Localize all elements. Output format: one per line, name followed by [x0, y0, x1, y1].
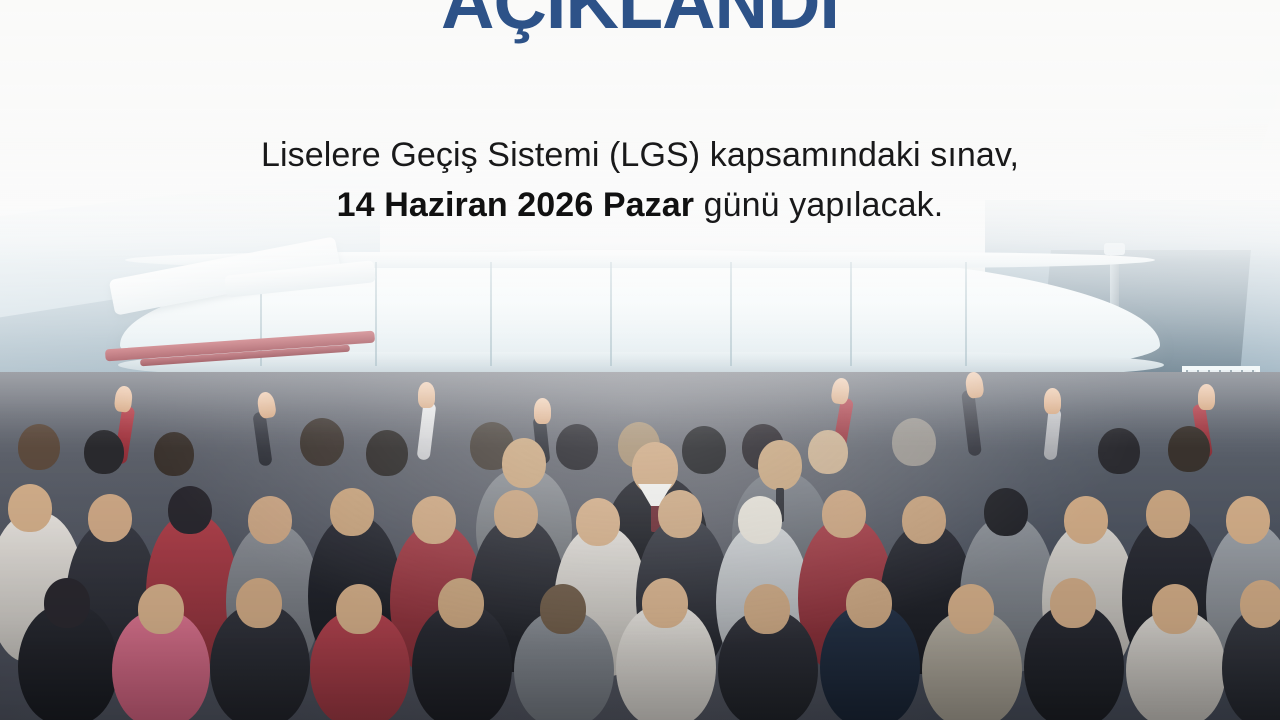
balcony-panel-divider	[490, 262, 492, 366]
subtitle-line-1: Liselere Geçiş Sistemi (LGS) kapsamındak…	[0, 130, 1280, 180]
student-crowd	[0, 372, 1280, 720]
page-title: AÇIKLANDI	[0, 0, 1280, 42]
balcony-panel-divider	[965, 262, 967, 366]
balcony-panel-divider	[610, 262, 612, 366]
subtitle-line-2: 14 Haziran 2026 Pazar günü yapılacak.	[0, 180, 1280, 230]
announcement-graphic: AÇIKLANDI Liselere Geçiş Sistemi (LGS) k…	[0, 0, 1280, 720]
crowd-tonal-overlay	[0, 372, 1280, 720]
balcony-panel-divider	[850, 262, 852, 366]
announcement-subtitle: Liselere Geçiş Sistemi (LGS) kapsamındak…	[0, 130, 1280, 230]
balcony-panel-divider	[730, 262, 732, 366]
subtitle-line-2-rest: günü yapılacak.	[694, 186, 943, 224]
exam-date: 14 Haziran 2026 Pazar	[337, 186, 694, 224]
